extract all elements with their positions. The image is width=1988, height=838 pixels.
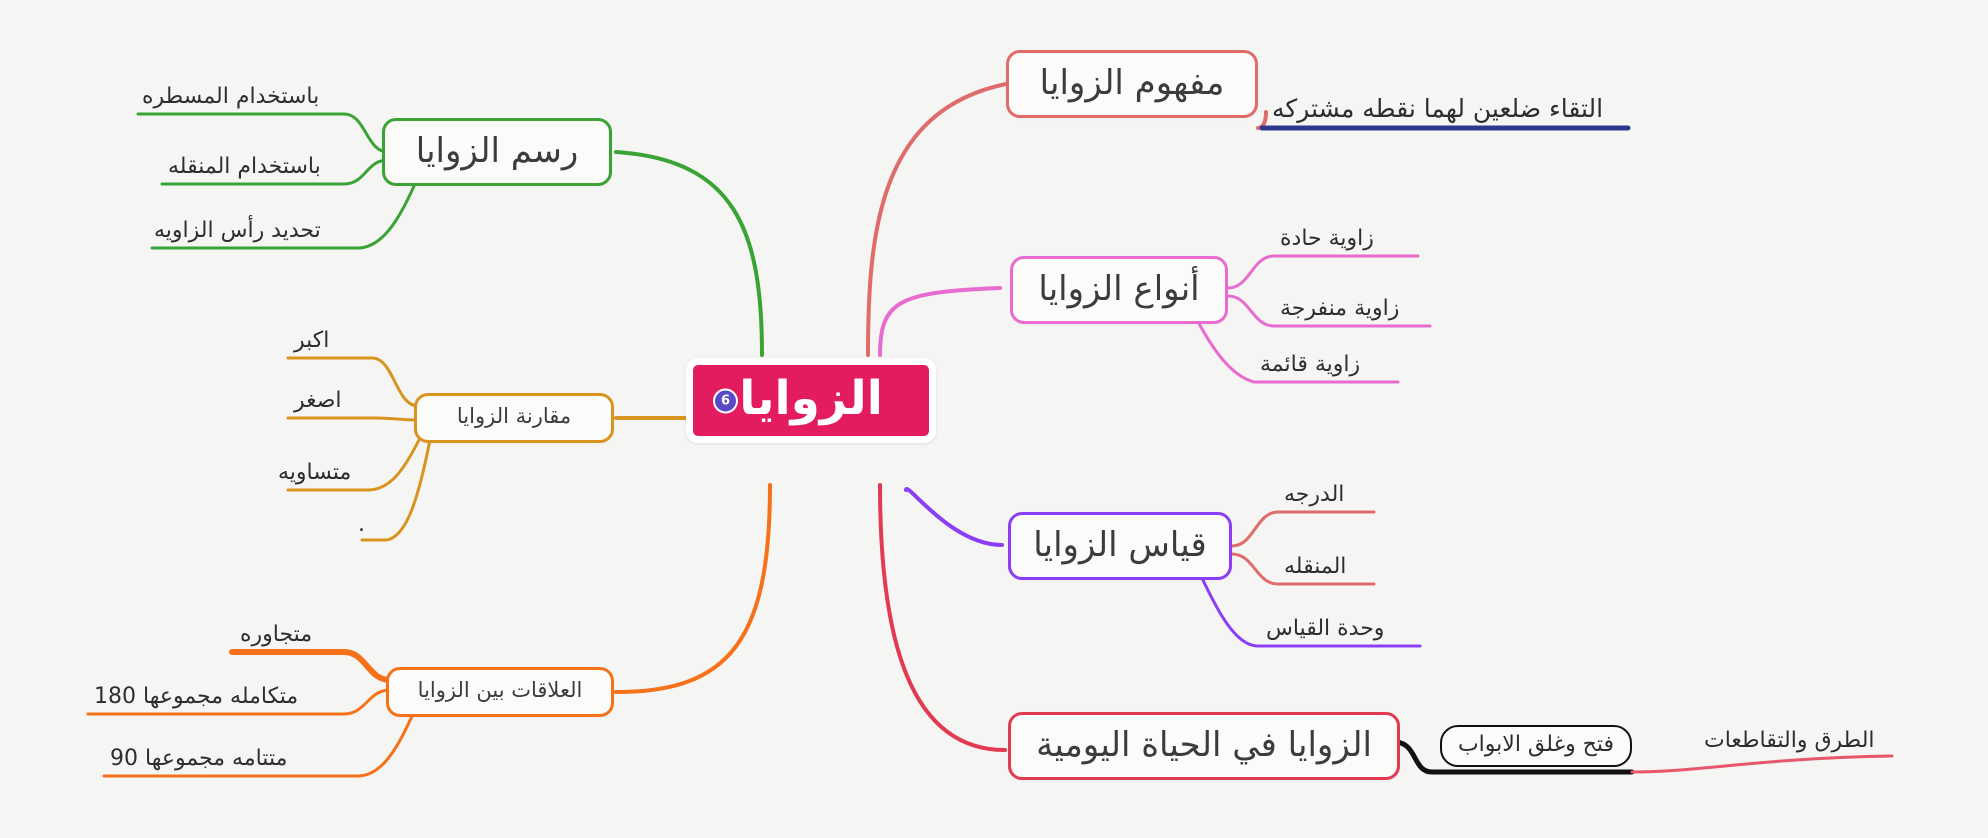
node-drawing[interactable]: رسم الزوايا [382, 118, 612, 186]
leaf-drawing-0-label: باستخدام المسطره [138, 85, 323, 112]
node-types[interactable]: أنواع الزوايا [1010, 256, 1228, 324]
leaf-measure-0-label: الدرجه [1280, 483, 1348, 510]
leaf-relations-2-label: متتامه مجموعها 90 [106, 747, 291, 774]
leaf-types-0[interactable]: زاوية حادة [1276, 210, 1378, 254]
root-label: الزوايا [739, 375, 883, 426]
node-comparison[interactable]: مقارنة الزوايا [414, 393, 614, 443]
link-root-measure [906, 489, 1002, 545]
leaf-measure-2[interactable]: وحدة القياس [1262, 600, 1388, 644]
leaf-measure-0[interactable]: الدرجه [1280, 466, 1348, 510]
leaf-types-1-label: زاوية منفرجة [1276, 297, 1403, 324]
leaf-measure-1-label: المنقله [1280, 555, 1350, 582]
node-types-label: أنواع الزوايا [1020, 272, 1217, 309]
leaf-relations-2[interactable]: متتامه مجموعها 90 [106, 730, 291, 774]
root-node[interactable]: 6 الزوايا [686, 358, 936, 443]
leaf-comparison-0-label: اكبر [290, 329, 333, 356]
leaf-daily-0-label: فتح وغلق الابواب [1446, 733, 1626, 759]
link-daily-child-1 [1632, 756, 1892, 772]
leaf-relations-0[interactable]: متجاوره [236, 606, 316, 650]
leaf-measure-2-label: وحدة القياس [1262, 617, 1388, 644]
connector-layer [0, 0, 1988, 838]
root-badge: 6 [713, 388, 738, 413]
link-root-daily [880, 485, 1005, 750]
mindmap-canvas: 6 الزوايا مفهوم الزوايا أنواع الزوايا قي… [0, 0, 1988, 838]
leaf-comparison-3[interactable]: . [354, 496, 369, 540]
leaf-types-2[interactable]: زاوية قائمة [1256, 336, 1364, 380]
link-root-concept [868, 84, 1006, 355]
leaf-comparison-2[interactable]: متساويه [274, 444, 355, 488]
leaf-relations-1-label: متكامله مجموعها 180 [90, 685, 302, 712]
leaf-comparison-1[interactable]: اصغر [290, 372, 346, 416]
leaf-concept-0[interactable]: التقاء ضلعين لهما نقطه مشتركه [1268, 78, 1607, 126]
leaf-measure-1[interactable]: المنقله [1280, 538, 1350, 582]
link-comparison-child-3 [362, 440, 430, 540]
leaf-types-0-label: زاوية حادة [1276, 227, 1378, 254]
node-measure-label: قياس الزوايا [1015, 528, 1224, 565]
link-comparison-child-1 [288, 418, 418, 420]
leaf-daily-0[interactable]: فتح وغلق الابواب [1440, 725, 1632, 767]
link-root-types [880, 288, 1000, 355]
node-daily-life-label: الزوايا في الحياة اليومية [1018, 728, 1390, 765]
leaf-drawing-0[interactable]: باستخدام المسطره [138, 68, 323, 112]
leaf-comparison-0[interactable]: اكبر [290, 312, 333, 356]
leaf-concept-0-label: التقاء ضلعين لهما نقطه مشتركه [1268, 96, 1607, 126]
leaf-relations-0-label: متجاوره [236, 623, 316, 650]
leaf-daily-1-label: الطرق والتقاطعات [1700, 729, 1879, 756]
node-daily-life[interactable]: الزوايا في الحياة اليومية [1008, 712, 1400, 780]
leaf-comparison-1-label: اصغر [290, 389, 346, 416]
leaf-drawing-1-label: باستخدام المنقله [164, 155, 325, 182]
node-comparison-label: مقارنة الزوايا [439, 406, 589, 430]
node-relations-label: العلاقات بين الزوايا [400, 680, 601, 704]
node-measure[interactable]: قياس الزوايا [1008, 512, 1232, 580]
leaf-drawing-1[interactable]: باستخدام المنقله [164, 138, 325, 182]
leaf-types-1[interactable]: زاوية منفرجة [1276, 280, 1403, 324]
leaf-types-2-label: زاوية قائمة [1256, 353, 1364, 380]
leaf-relations-1[interactable]: متكامله مجموعها 180 [90, 668, 302, 712]
leaf-drawing-2-label: تحديد رأس الزاويه [150, 219, 325, 246]
link-root-drawing [616, 152, 762, 355]
node-concept[interactable]: مفهوم الزوايا [1006, 50, 1258, 118]
node-relations[interactable]: العلاقات بين الزوايا [386, 667, 614, 717]
leaf-comparison-3-label: . [354, 513, 369, 540]
link-root-relations [616, 485, 770, 692]
leaf-comparison-2-label: متساويه [274, 461, 355, 488]
leaf-drawing-2[interactable]: تحديد رأس الزاويه [150, 202, 325, 246]
link-concept-child-0-stub [1258, 112, 1266, 128]
node-concept-label: مفهوم الزوايا [1022, 66, 1243, 103]
node-drawing-label: رسم الزوايا [398, 134, 597, 171]
leaf-daily-1[interactable]: الطرق والتقاطعات [1700, 712, 1879, 756]
